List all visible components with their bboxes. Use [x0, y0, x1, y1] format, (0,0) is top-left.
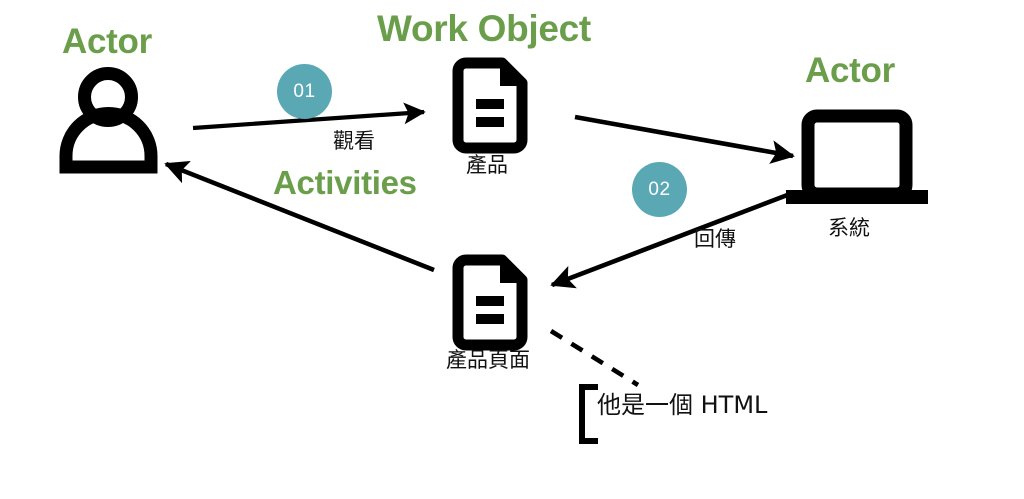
- document-icon: [458, 62, 524, 148]
- node-label-system: 系統: [828, 218, 870, 239]
- edge-label-return: 回傳: [694, 229, 736, 250]
- person-icon: [60, 74, 157, 174]
- edge-label-view: 觀看: [333, 131, 375, 152]
- heading-actor-left: Actor: [62, 24, 152, 59]
- diagram-canvas: Actor Work Object Actor Activities 產品 產品…: [0, 0, 1024, 499]
- node-label-product-page: 產品頁面: [446, 350, 530, 371]
- step-badge-01: 01: [277, 64, 332, 119]
- laptop-icon: [786, 116, 928, 204]
- document-icon: [458, 259, 524, 345]
- heading-work-object: Work Object: [377, 10, 591, 47]
- annotation-leader-line: [551, 331, 638, 385]
- node-label-product: 產品: [466, 155, 508, 176]
- annotation-bracket: [582, 387, 598, 441]
- annotation-html-text: 他是一個 HTML: [597, 393, 767, 417]
- step-badge-02: 02: [632, 162, 687, 217]
- heading-actor-right: Actor: [805, 53, 895, 88]
- edge-product-to-system-arrow: [575, 117, 793, 156]
- heading-activities: Activities: [273, 166, 417, 199]
